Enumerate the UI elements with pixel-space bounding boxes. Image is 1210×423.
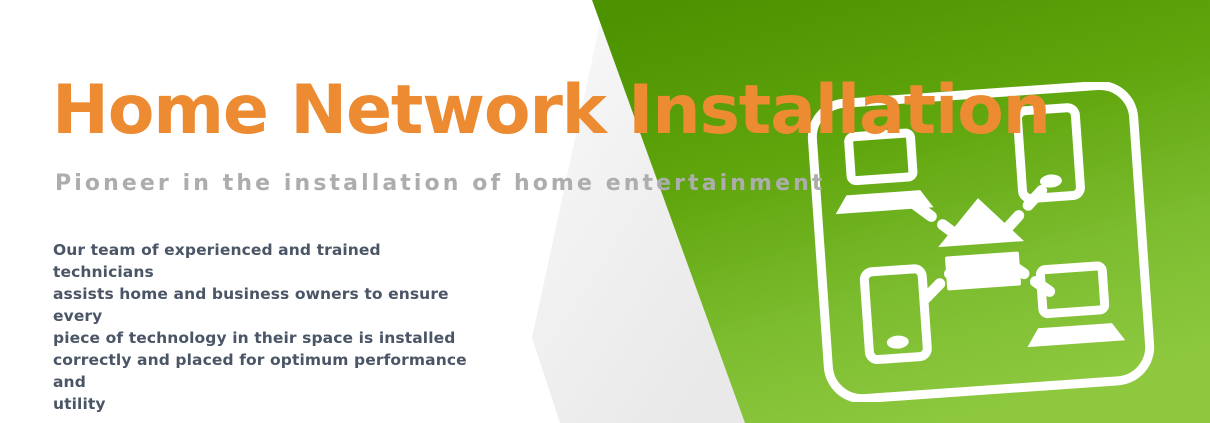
home-network-diagram [806,82,1158,402]
smartphone-icon-bottom-left [864,268,928,360]
home-network-installation-banner: Home Network Installation Pioneer in the… [0,0,1210,423]
smartphone-icon-top-right [1017,107,1081,199]
laptop-icon-bottom-right [1022,264,1125,347]
laptop-icon-top-left [830,131,933,214]
router-icon [935,195,1027,291]
